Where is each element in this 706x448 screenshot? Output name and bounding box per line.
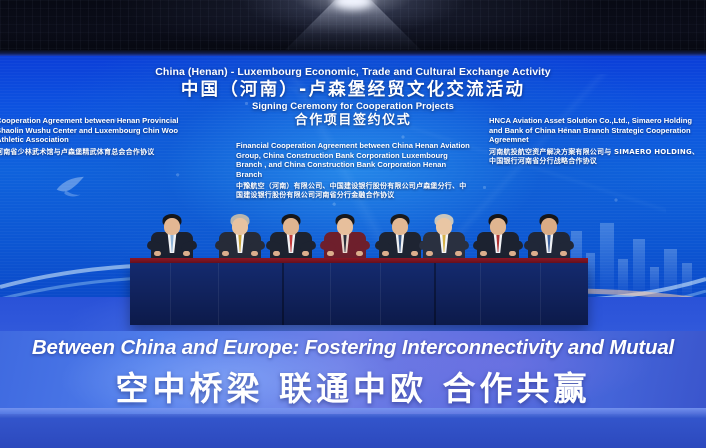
- agreement-right-chinese: 河南航投航空资产解决方案有限公司与 SIMAERO HOLDING、中国银行河南…: [489, 148, 706, 166]
- dove-icon: [55, 174, 89, 200]
- signatory-right-hand: [302, 251, 309, 256]
- signatory-right-hand: [455, 251, 462, 256]
- signatory-head: [541, 218, 557, 235]
- signatory-right-hand: [356, 251, 363, 256]
- headline-chinese-title: 中国（河南）-卢森堡经贸文化交流活动: [0, 79, 706, 101]
- agreement-left-chinese: 河南省少林武术馆与卢森堡精武体育总会合作协议: [0, 148, 188, 157]
- signatory-right-hand: [509, 251, 516, 256]
- banner-chinese-text: 空中桥梁 联通中欧 合作共赢: [0, 362, 706, 410]
- agreement-right-english: HNCA Aviation Asset Solution Co.,Ltd., S…: [489, 116, 692, 144]
- signatory-left-hand: [273, 251, 280, 256]
- signatory-head: [232, 218, 248, 235]
- signatory-head: [392, 218, 408, 235]
- screenshot-stage: China (Henan) - Luxembourg Economic, Tra…: [0, 0, 706, 448]
- signatory-head: [283, 218, 299, 235]
- signatory-left-hand: [382, 251, 389, 256]
- signatory-right-hand: [251, 251, 258, 256]
- signatory-left-hand: [480, 251, 487, 256]
- table-skirt-seam: [282, 263, 284, 325]
- agreement-middle-english: Financial Cooperation Agreement between …: [236, 141, 470, 179]
- agreement-middle-chinese: 中豫航空（河南）有限公司、中国建设银行股份有限公司卢森堡分行、中国建设银行股份有…: [236, 182, 472, 200]
- signatory-left-hand: [154, 251, 161, 256]
- agreement-caption-right: HNCA Aviation Asset Solution Co.,Ltd., S…: [489, 116, 706, 166]
- headline-english-title: China (Henan) - Luxembourg Economic, Tra…: [0, 66, 706, 79]
- signatory-left-hand: [426, 251, 433, 256]
- signatory-right-hand: [560, 251, 567, 256]
- headline-english-subtitle: Signing Ceremony for Cooperation Project…: [0, 101, 706, 113]
- signatory-left-hand: [531, 251, 538, 256]
- agreement-caption-middle: Financial Cooperation Agreement between …: [236, 141, 472, 200]
- signatory-head: [337, 218, 353, 235]
- banner-english-text: Between China and Europe: Fostering Inte…: [0, 336, 706, 360]
- table-skirt-seam: [434, 263, 436, 325]
- signatory-right-hand: [183, 251, 190, 256]
- agreement-caption-left: Cooperation Agreement between Henan Prov…: [0, 116, 188, 157]
- banner-bottom-edge: [0, 408, 706, 418]
- signatory-head: [436, 218, 452, 235]
- signatory-head: [490, 218, 506, 235]
- signing-table-skirt: [130, 263, 588, 325]
- agreement-left-english: Cooperation Agreement between Henan Prov…: [0, 116, 178, 144]
- signatory-head: [164, 218, 180, 235]
- signatory-left-hand: [327, 251, 334, 256]
- signatory-left-hand: [222, 251, 229, 256]
- signatory-right-hand: [411, 251, 418, 256]
